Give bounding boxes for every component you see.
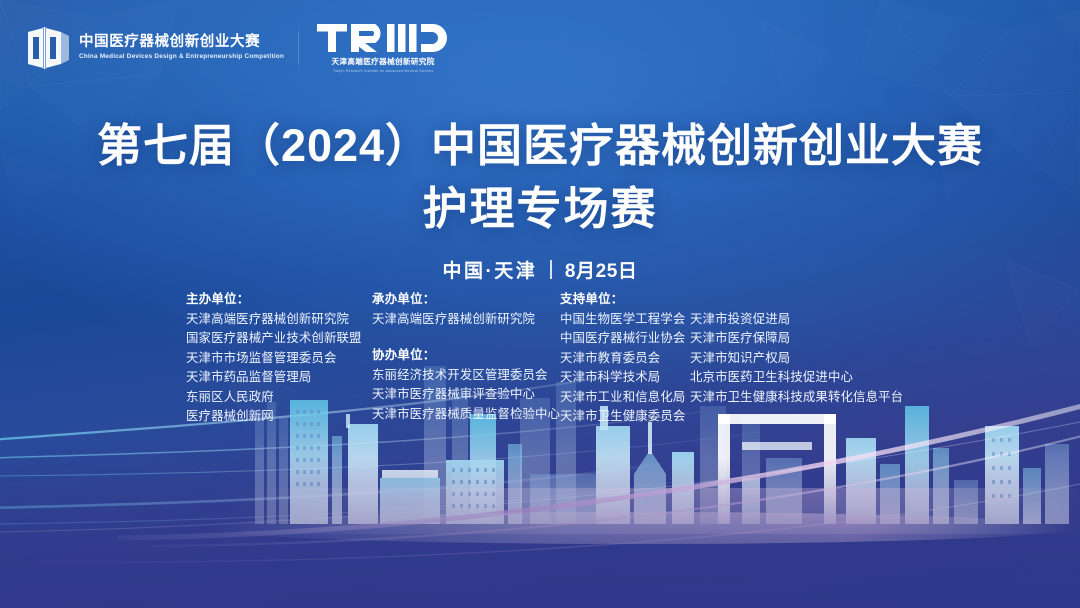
open-book-door-logo-icon	[26, 27, 70, 69]
org-heading: 协办单位：	[372, 346, 560, 366]
org-item: 天津市市场监督管理委员会	[186, 349, 372, 369]
org-item: 国家医疗器械产业技术创新联盟	[186, 329, 372, 349]
org-heading: 主办单位：	[186, 290, 372, 310]
org-item: 天津市卫生健康委员会	[560, 407, 690, 427]
logo-divider	[298, 31, 299, 65]
competition-logo-text: 中国医疗器械创新创业大赛 China Medical Devices Desig…	[79, 34, 280, 61]
org-item: 中国生物医学工程学会	[560, 310, 690, 330]
org-heading: 支持单位：	[560, 290, 690, 310]
institute-en-name: Tianjin Research Institute for Advanced …	[333, 69, 434, 73]
org-item: 天津市投资促进局	[690, 310, 903, 330]
place-date-line: 中国·天津 8月25日	[0, 256, 1080, 283]
light-ribbons-pink	[0, 404, 1080, 562]
org-item: 医疗器械创新网	[186, 407, 372, 427]
org-block-coorganizer: 协办单位： 东丽经济技术开发区管理委员会 天津市医疗器械审评查验中心 天津市医疗…	[372, 346, 560, 424]
org-block-supporters-cont: 天津市投资促进局 天津市医疗保障局 天津市知识产权局 北京市医药卫生科技促进中心…	[690, 290, 903, 407]
org-item: 天津市知识产权局	[690, 349, 903, 369]
org-block-host: 主办单位： 天津高端医疗器械创新研究院 国家医疗器械产业技术创新联盟 天津市市场…	[186, 290, 372, 427]
org-item: 天津市医疗器械审评查验中心	[372, 385, 560, 405]
org-column-3: 支持单位： 中国生物医学工程学会 中国医疗器械行业协会 天津市教育委员会 天津市…	[560, 290, 690, 427]
org-column-4-spacer	[690, 290, 903, 310]
title-line-2: 护理专场赛	[0, 181, 1080, 238]
org-item: 天津市教育委员会	[560, 349, 690, 369]
event-place: 中国·天津	[442, 256, 537, 283]
org-column-2: 承办单位： 天津高端医疗器械创新研究院 协办单位： 东丽经济技术开发区管理委员会…	[372, 290, 560, 424]
logo-bar: 中国医疗器械创新创业大赛 China Medical Devices Desig…	[26, 22, 449, 73]
poster-canvas: 中国医疗器械创新创业大赛 China Medical Devices Desig…	[0, 0, 1080, 608]
org-column-1: 主办单位： 天津高端医疗器械创新研究院 国家医疗器械产业技术创新联盟 天津市市场…	[186, 290, 372, 427]
org-item: 天津市科学技术局	[560, 368, 690, 388]
bottom-gradient-wash	[0, 458, 1080, 608]
org-item: 天津市医疗保障局	[690, 329, 903, 349]
org-heading: 承办单位：	[372, 290, 560, 310]
org-item: 天津市药品监督管理局	[186, 368, 372, 388]
org-item: 东丽经济技术开发区管理委员会	[372, 366, 560, 386]
triid-wordmark-icon	[317, 23, 449, 53]
org-item: 天津市卫生健康科技成果转化信息平台	[690, 388, 903, 408]
org-item: 天津市医疗器械质量监督检验中心	[372, 405, 560, 425]
competition-cn-name: 中国医疗器械创新创业大赛	[79, 34, 280, 51]
meta-divider	[550, 260, 552, 279]
competition-logo: 中国医疗器械创新创业大赛 China Medical Devices Desig…	[26, 27, 280, 69]
event-date: 8月25日	[565, 256, 638, 283]
org-item: 北京市医药卫生科技促进中心	[690, 368, 903, 388]
title-line-1: 第七届（2024）中国医疗器械创新创业大赛	[0, 118, 1080, 175]
org-item: 天津市工业和信息化局	[560, 388, 690, 408]
competition-en-name: China Medical Devices Design & Entrepren…	[79, 53, 284, 60]
org-item: 天津高端医疗器械创新研究院	[372, 310, 560, 330]
org-item: 东丽区人民政府	[186, 388, 372, 408]
institute-cn-name: 天津高端医疗器械创新研究院	[331, 56, 434, 67]
gate-structure	[718, 414, 836, 524]
org-item: 天津高端医疗器械创新研究院	[186, 310, 372, 330]
org-block-supporters: 支持单位： 中国生物医学工程学会 中国医疗器械行业协会 天津市教育委员会 天津市…	[560, 290, 690, 427]
org-item: 中国医疗器械行业协会	[560, 329, 690, 349]
poster-title: 第七届（2024）中国医疗器械创新创业大赛 护理专场赛	[0, 118, 1080, 237]
organizations-block: 主办单位： 天津高端医疗器械创新研究院 国家医疗器械产业技术创新联盟 天津市市场…	[186, 290, 903, 427]
org-block-organizer: 承办单位： 天津高端医疗器械创新研究院	[372, 290, 560, 329]
org-column-4: 天津市投资促进局 天津市医疗保障局 天津市知识产权局 北京市医药卫生科技促进中心…	[690, 290, 903, 407]
institute-logo: 天津高端医疗器械创新研究院 Tianjin Research Institute…	[317, 22, 449, 73]
